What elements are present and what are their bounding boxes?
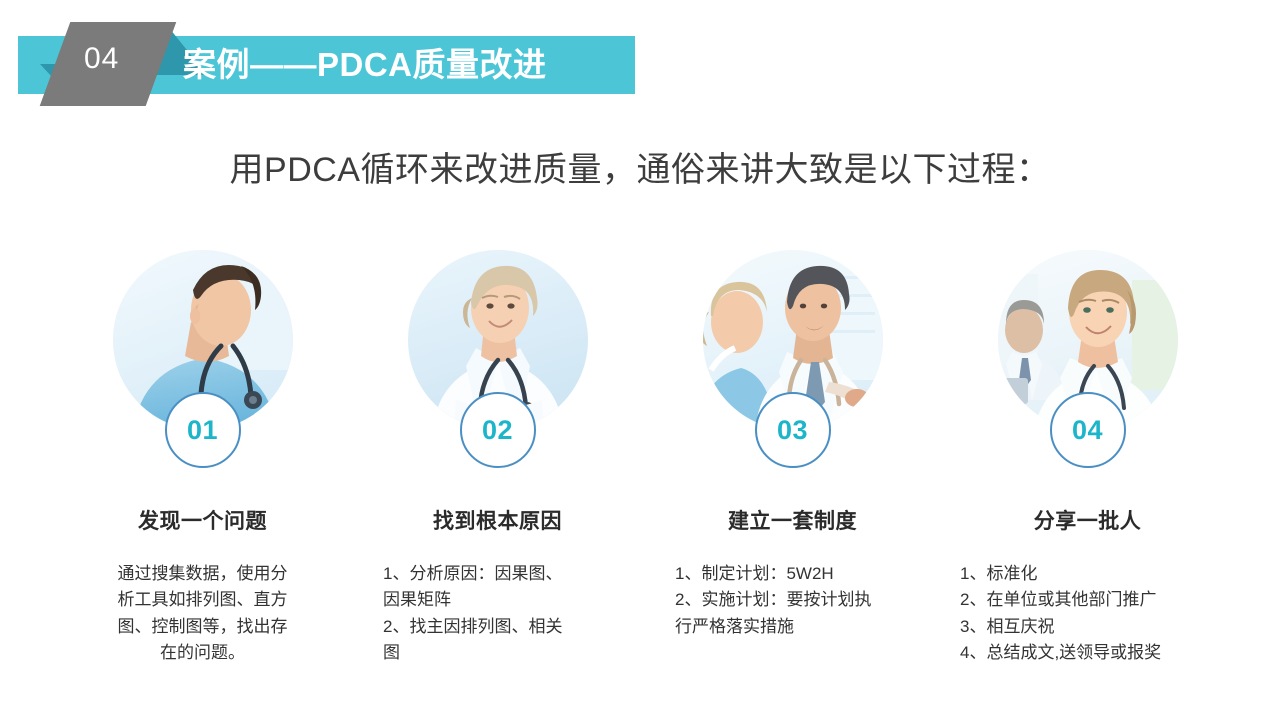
- step-badge-number: 03: [777, 417, 808, 444]
- step-body-4: 1、标准化 2、在单位或其他部门推广 3、相互庆祝 4、总结成文,送领导或报奖: [950, 561, 1225, 666]
- process-steps: 01 发现一个问题 通过搜集数据，使用分 析工具如排列图、直方 图、控制图等，找…: [60, 250, 1230, 680]
- step-body-line: 因果矩阵: [383, 587, 620, 613]
- step-body-line: 4、总结成文,送领导或报奖: [960, 640, 1225, 666]
- step-body-line: 图、控制图等，找出存: [88, 614, 318, 640]
- step-body-line: 图: [383, 640, 620, 666]
- step-photo-wrap-1: 01: [113, 250, 293, 430]
- step-badge-number: 01: [187, 417, 218, 444]
- step-photo-wrap-4: 04: [998, 250, 1178, 430]
- step-body-line: 2、找主因排列图、相关: [383, 614, 620, 640]
- step-title-2: 找到根本原因: [433, 505, 562, 535]
- step-title-4: 分享一批人: [1034, 505, 1142, 535]
- step-body-line: 析工具如排列图、直方: [88, 587, 318, 613]
- step-badge-number: 02: [482, 417, 513, 444]
- step-body-1: 通过搜集数据，使用分 析工具如排列图、直方 图、控制图等，找出存 在的问题。: [88, 561, 318, 666]
- step-badge-2: 02: [460, 392, 536, 468]
- banner-section-number: 04: [84, 44, 154, 74]
- step-body-2: 1、分析原因：因果图、 因果矩阵 2、找主因排列图、相关 图: [375, 561, 620, 666]
- step-body-line: 2、在单位或其他部门推广: [960, 587, 1225, 613]
- step-body-line: 通过搜集数据，使用分: [88, 561, 318, 587]
- step-column-3: 03 建立一套制度 1、制定计划：5W2H 2、实施计划：要按计划执 行严格落实…: [650, 250, 935, 640]
- step-body-3: 1、制定计划：5W2H 2、实施计划：要按计划执 行严格落实措施: [665, 561, 920, 640]
- step-column-4: 04 分享一批人 1、标准化 2、在单位或其他部门推广 3、相互庆祝 4、总结成…: [945, 250, 1230, 666]
- step-body-line: 3、相互庆祝: [960, 614, 1225, 640]
- step-body-line: 行严格落实措施: [675, 614, 920, 640]
- step-badge-number: 04: [1072, 417, 1103, 444]
- step-body-line: 1、制定计划：5W2H: [675, 561, 920, 587]
- step-photo-wrap-3: 03: [703, 250, 883, 430]
- step-badge-4: 04: [1050, 392, 1126, 468]
- step-title-3: 建立一套制度: [728, 505, 857, 535]
- step-badge-3: 03: [755, 392, 831, 468]
- step-column-2: 02 找到根本原因 1、分析原因：因果图、 因果矩阵 2、找主因排列图、相关 图: [355, 250, 640, 666]
- step-body-line: 1、分析原因：因果图、: [383, 561, 620, 587]
- header-banner: 04 案例——PDCA质量改进: [0, 0, 1280, 120]
- step-body-line: 2、实施计划：要按计划执: [675, 587, 920, 613]
- step-body-line: 在的问题。: [88, 640, 318, 666]
- step-badge-1: 01: [165, 392, 241, 468]
- step-body-line: 1、标准化: [960, 561, 1225, 587]
- page-subheading: 用PDCA循环来改进质量，通俗来讲大致是以下过程：: [0, 142, 1280, 191]
- banner-title: 案例——PDCA质量改进: [183, 44, 547, 85]
- step-photo-wrap-2: 02: [408, 250, 588, 430]
- step-title-1: 发现一个问题: [138, 505, 267, 535]
- step-column-1: 01 发现一个问题 通过搜集数据，使用分 析工具如排列图、直方 图、控制图等，找…: [60, 250, 345, 666]
